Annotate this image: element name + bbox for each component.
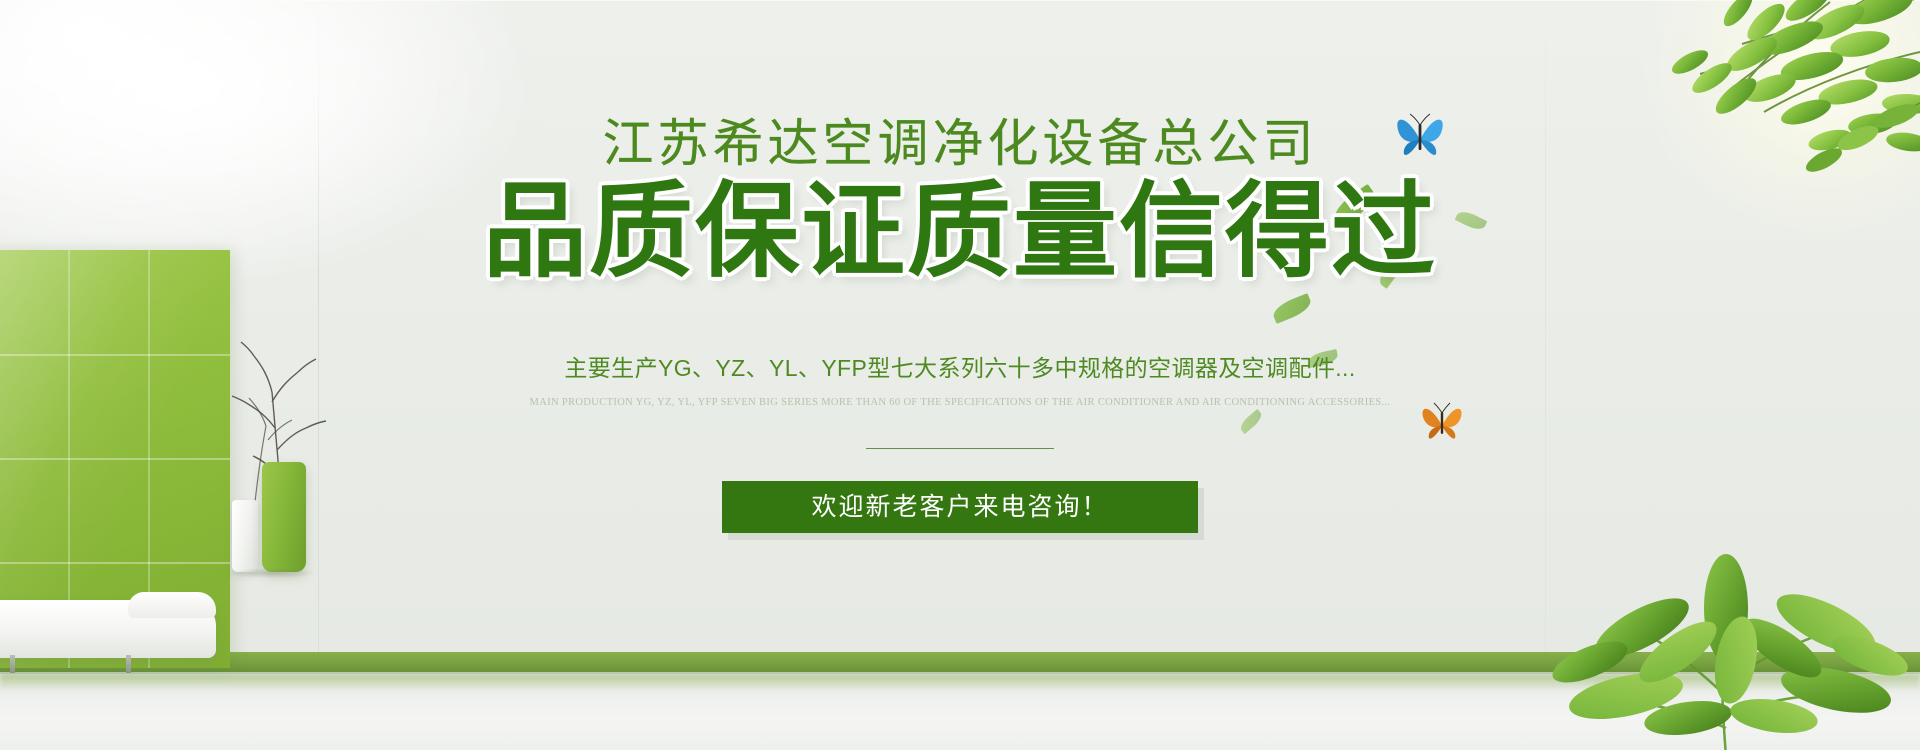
company-name: 江苏希达空调净化设备总公司 xyxy=(602,118,1317,169)
subtitle-english: MAIN PRODUCTION YG, YZ, YL, YFP SEVEN BI… xyxy=(530,398,1391,409)
bench-armrest xyxy=(128,592,216,618)
white-vase xyxy=(232,500,258,572)
blue-butterfly xyxy=(1392,110,1448,162)
hero-banner: 江苏希达空调净化设备总公司 品质保证质量信得过 主要生产YG、YZ、YL、YFP… xyxy=(0,0,1920,750)
green-leaves-branch-lower xyxy=(1746,96,1920,216)
contact-cta-button[interactable]: 欢迎新老客户来电咨询！ xyxy=(722,481,1198,533)
orange-butterfly xyxy=(1418,400,1466,446)
headline-slogan: 品质保证质量信得过 xyxy=(483,178,1437,287)
subtitle-chinese: 主要生产YG、YZ、YL、YFP型七大系列六十多中规格的空调器及空调配件... xyxy=(564,357,1355,380)
bench-leg xyxy=(126,655,131,673)
potted-plant xyxy=(1530,456,1920,750)
vase-shadow xyxy=(226,568,316,578)
divider-line xyxy=(866,448,1054,449)
green-vase xyxy=(262,462,306,572)
bench-leg xyxy=(10,655,15,673)
